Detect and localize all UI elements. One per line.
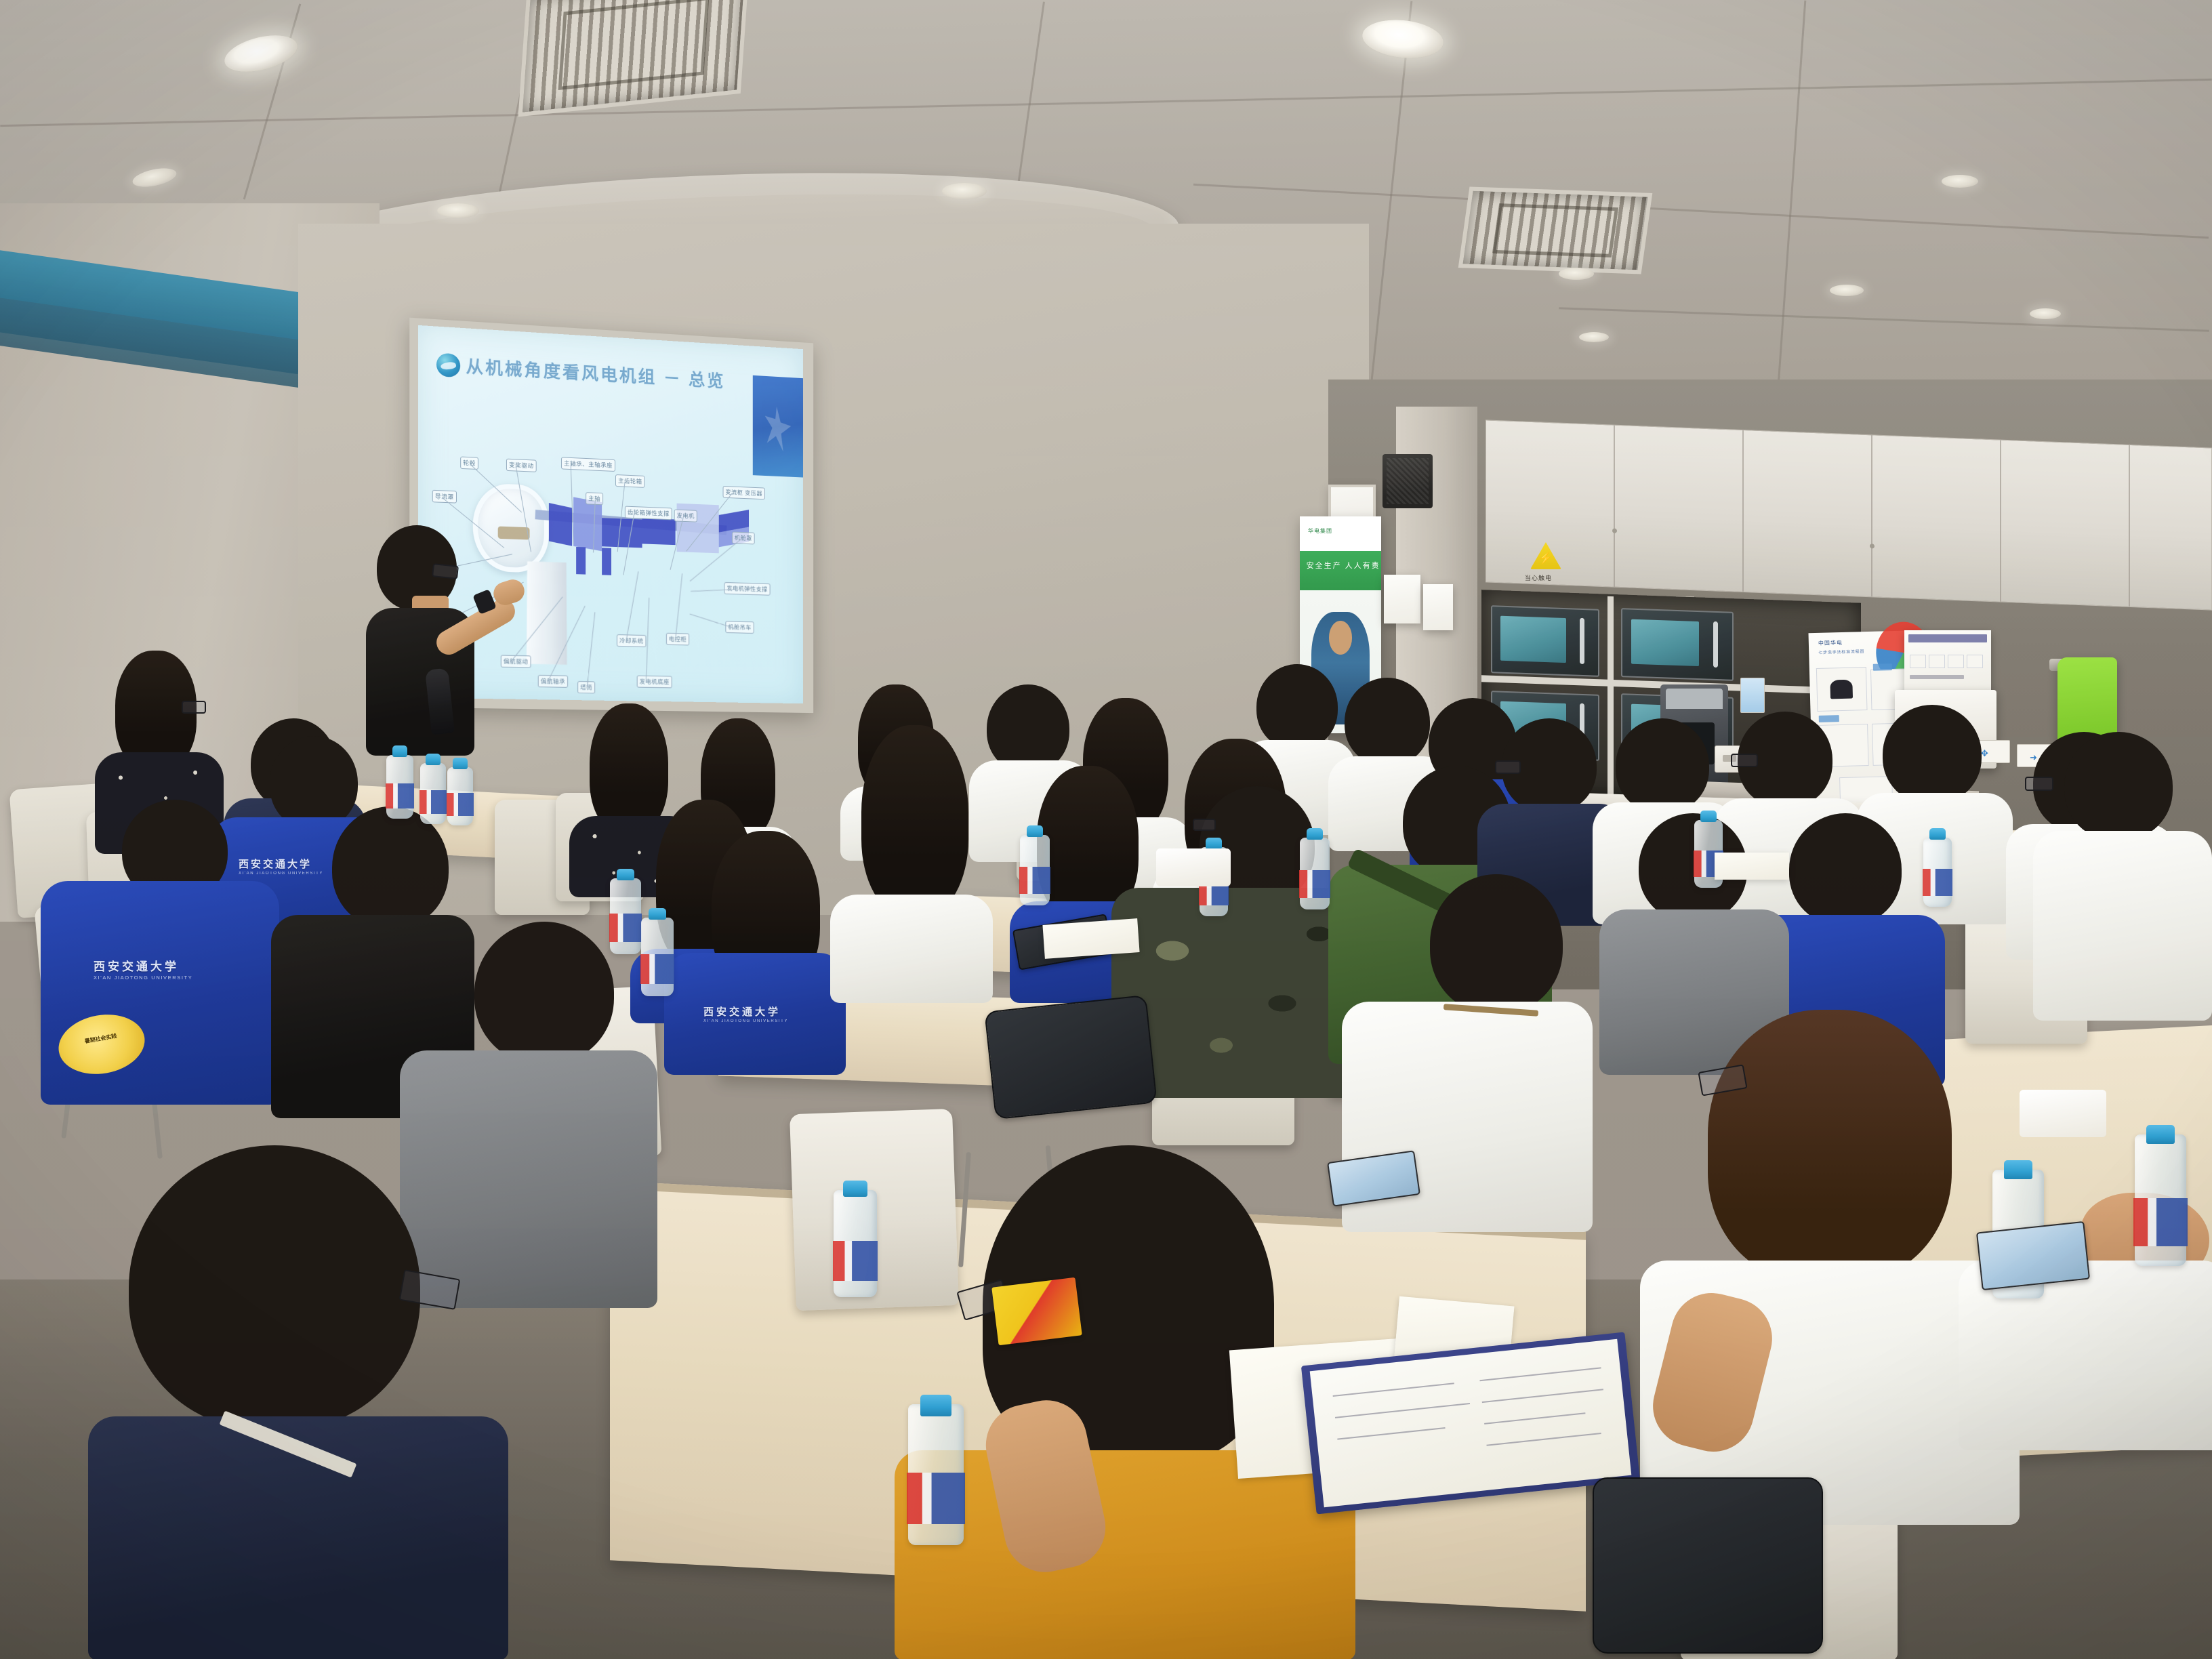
hair [474, 922, 614, 1064]
water-bottle[interactable] [447, 758, 473, 825]
bottle-label [2133, 1198, 2187, 1246]
turbine-part [642, 518, 676, 546]
tissue-pack[interactable] [1156, 848, 1231, 886]
slide-callout-label: 发电机 [674, 509, 697, 522]
slide-logo-icon [436, 352, 460, 377]
turbine-part [573, 497, 602, 551]
slide-callout-label: 轮毂 [460, 456, 478, 470]
torso-xjtu-shirt [41, 881, 279, 1105]
bag[interactable] [984, 995, 1157, 1120]
ceiling-downlight [1559, 268, 1594, 280]
slide-title: 从机械角度看风电机组 － 总览 [466, 353, 725, 392]
bottle-cap [1700, 811, 1717, 822]
water-bottle[interactable] [1300, 828, 1330, 909]
slide-callout-label: 变流柜 变压器 [723, 486, 765, 499]
bag[interactable] [1593, 1477, 1823, 1654]
bottle-label [1019, 867, 1050, 894]
slide-callout-label: 齿轮箱弹性支撑 [625, 506, 672, 520]
notice-header-band [1908, 634, 1987, 642]
hair [987, 684, 1069, 773]
cabinet-door[interactable] [1615, 426, 1744, 592]
cabinet-door[interactable] [2001, 441, 2130, 607]
bottle-cap [1027, 825, 1044, 837]
cabinet-handle[interactable] [1612, 529, 1617, 533]
banner-face [1329, 621, 1353, 655]
glasses-icon [1193, 819, 1216, 831]
cabinet-door[interactable] [1872, 435, 2001, 601]
hair [1708, 1010, 1952, 1281]
microwave-oven[interactable] [1491, 605, 1599, 677]
wall-speaker [1382, 454, 1433, 508]
poster-step-tag [1873, 663, 1892, 671]
microwave-handle[interactable] [1713, 621, 1718, 668]
cabinet-handle[interactable] [1870, 544, 1875, 548]
slide-leader-line [646, 598, 650, 683]
slide-callout-label: 变桨驱动 [506, 459, 537, 472]
bottle-cap [2004, 1160, 2033, 1179]
notice-thumb [1967, 655, 1983, 668]
glasses-icon [1731, 754, 1758, 767]
poster-subtitle: 七步洗手法标准流程图 [1818, 648, 1864, 655]
microwave-window [1631, 619, 1699, 666]
water-bottle[interactable] [2135, 1125, 2186, 1266]
slide-leader-line [587, 612, 596, 689]
audience-member [830, 725, 993, 996]
slide-callout-label: 主轴承、主轴承座 [561, 457, 615, 472]
audience-member-xjtu: 西安交通大学 XI'AN JIAOTONG UNIVERSITY 暑期社会实践 [41, 800, 285, 1098]
wall-notice [1904, 630, 1991, 695]
paper-sheet[interactable] [1042, 918, 1139, 959]
microwave-handle[interactable] [1580, 618, 1584, 663]
turbine-part [549, 503, 572, 546]
practice-badge-text: 暑期社会实践 [58, 1027, 144, 1050]
upper-cabinets[interactable] [1486, 419, 2212, 610]
hair [1430, 874, 1563, 1014]
hair [861, 725, 968, 915]
water-bottle[interactable] [420, 754, 446, 824]
ceiling-downlight [1579, 332, 1609, 342]
water-bottle[interactable] [610, 869, 641, 954]
tissue-pack[interactable] [2020, 1090, 2106, 1137]
hair [2064, 732, 2173, 840]
ceiling-downlight [1830, 285, 1864, 296]
hair [1883, 705, 1982, 804]
cabinet-door[interactable] [1744, 430, 1872, 596]
bottle-label [447, 793, 474, 816]
bottle-label [386, 783, 414, 808]
hair [332, 806, 449, 928]
shirt-university-en: XI'AN JIAOTONG UNIVERSITY [703, 1019, 788, 1023]
microwave-oven[interactable] [1621, 608, 1734, 681]
notice-thumb [1948, 655, 1964, 668]
hazard-caption: 当心触电 [1525, 573, 1552, 582]
turbine-support [576, 547, 586, 575]
folder-document [1310, 1339, 1632, 1508]
paper-sheet[interactable] [1715, 853, 1789, 880]
hair [1256, 664, 1338, 750]
wall-flyer [1423, 584, 1453, 630]
bottle-cap [426, 754, 440, 765]
bottle-cap [843, 1181, 867, 1197]
notice-thumb [1910, 655, 1926, 668]
water-dispenser-top [1666, 689, 1723, 709]
slide-callout-label: 发电机底座 [637, 676, 672, 689]
slide-callout-label: 电控柜 [666, 633, 689, 646]
bottle-label [833, 1241, 878, 1280]
bottle-cap [1307, 828, 1324, 840]
bottle-cap [649, 908, 667, 920]
shirt-university-cn: 西安交通大学 [703, 1004, 781, 1019]
presenter [352, 525, 508, 756]
audience-member [2033, 732, 2212, 1017]
slide-callout-label: 主齿轮箱 [615, 474, 645, 488]
notice-text-band [1910, 675, 1964, 679]
wall-flyer [1384, 575, 1420, 623]
bottle-label [640, 954, 674, 984]
shirt-university-cn: 西安交通大学 [94, 957, 179, 974]
glasses-icon [1495, 760, 1521, 774]
bottle-label [1923, 869, 1952, 895]
bottle-label [609, 914, 642, 943]
bottle-cap [617, 869, 634, 880]
water-bottle[interactable] [834, 1181, 877, 1297]
turbine-part [602, 518, 642, 548]
wall-sticker [1740, 678, 1765, 713]
slide-callout-label: 偏航轴承 [538, 675, 568, 688]
bottle-cap [392, 745, 407, 757]
bottle-cap [1929, 828, 1946, 840]
mobile-phone[interactable] [1976, 1221, 2090, 1290]
audience-member-xjtu: 西安交通大学 XI'AN JIAOTONG UNIVERSITY [664, 831, 847, 1068]
torso [830, 895, 993, 1003]
presenter-glasses-icon [432, 563, 459, 579]
banner-logo-text: 华电集团 [1308, 527, 1332, 535]
ceiling-downlight [2030, 308, 2061, 319]
banner-heading: 安全生产 人人有责 [1307, 560, 1380, 571]
water-bottle[interactable] [1020, 825, 1050, 905]
lecture-room-photo: 从机械角度看风电机组 － 总览 轮毂变桨驱动主轴承、主轴承座主齿轮箱主轴齿轮箱弹… [0, 0, 2212, 1659]
slide-callout-label: 冷却系统 [617, 634, 647, 647]
water-bottle[interactable] [1923, 828, 1952, 907]
turbine-tower [527, 561, 567, 665]
snack-package[interactable] [991, 1277, 1082, 1345]
torso [2033, 831, 2212, 1021]
poster-title: 中国华电 [1818, 639, 1843, 647]
water-bottle[interactable] [908, 1395, 964, 1545]
ceiling-downlight [437, 203, 479, 218]
shirt-university-en: XI'AN JIAOTONG UNIVERSITY [94, 975, 192, 981]
water-bottle[interactable] [386, 745, 413, 819]
bottle-label [1299, 870, 1330, 898]
ceiling-downlight [942, 183, 987, 199]
glasses-icon [182, 701, 206, 714]
ceiling-downlight [1942, 175, 1978, 188]
hair [129, 1145, 420, 1430]
bottle-cap [2146, 1125, 2175, 1144]
bottle-cap [920, 1395, 951, 1416]
audience-member-foreground-left [88, 1145, 508, 1659]
ac-diffuser-vent [1458, 187, 1653, 274]
bottle-label [419, 790, 447, 814]
microwave-window [1500, 616, 1566, 663]
slide-callout-label: 导流罩 [432, 490, 457, 504]
slide-accent-box [753, 375, 803, 478]
hair [1616, 718, 1709, 813]
turbine-support [602, 548, 611, 575]
bottle-cap [1206, 838, 1222, 849]
water-bottle[interactable] [641, 908, 674, 996]
notice-thumb [1929, 655, 1945, 668]
bottle-label [907, 1473, 964, 1523]
hair [1789, 813, 1902, 926]
bottle-cap [453, 758, 467, 769]
poster-figure [1830, 680, 1853, 699]
